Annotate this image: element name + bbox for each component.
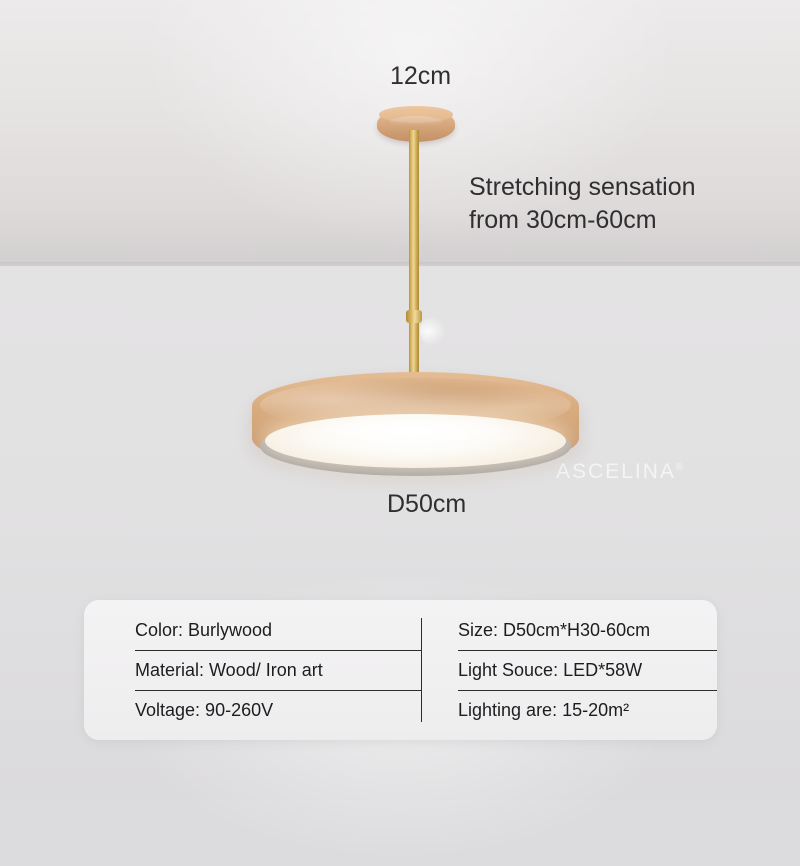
- suspension-rod: [409, 130, 419, 388]
- spec-row-voltage: Voltage: 90-260V: [135, 690, 421, 730]
- rod-telescoping-joint: [406, 310, 422, 323]
- spec-row-lighting-area: Lighting are: 15-20m²: [458, 690, 717, 730]
- rod-light-highlight: [420, 316, 446, 346]
- annotation-stretch-range: Stretching sensation from 30cm-60cm: [469, 171, 696, 237]
- annotation-stretch-line2: from 30cm-60cm: [469, 204, 696, 237]
- spec-column-left: Color: Burlywood Material: Wood/ Iron ar…: [84, 600, 421, 740]
- specification-card: Color: Burlywood Material: Wood/ Iron ar…: [84, 600, 717, 740]
- spec-row-size: Size: D50cm*H30-60cm: [458, 610, 717, 650]
- spec-row-color: Color: Burlywood: [135, 610, 421, 650]
- annotation-canopy-diameter: 12cm: [390, 62, 451, 91]
- brand-watermark-mark: ®: [676, 462, 685, 473]
- canopy-wood-grain: [390, 116, 442, 128]
- spec-row-material: Material: Wood/ Iron art: [135, 650, 421, 690]
- diffuser-hotspot: [312, 420, 512, 446]
- lamp-shade: [252, 372, 579, 477]
- annotation-stretch-line1: Stretching sensation: [469, 171, 696, 204]
- brand-watermark: ASCELINA®: [556, 460, 685, 484]
- annotation-shade-diameter: D50cm: [387, 490, 466, 519]
- spec-column-right: Size: D50cm*H30-60cm Light Souce: LED*58…: [421, 600, 717, 740]
- brand-watermark-text: ASCELINA: [556, 460, 676, 483]
- spec-row-light-source: Light Souce: LED*58W: [458, 650, 717, 690]
